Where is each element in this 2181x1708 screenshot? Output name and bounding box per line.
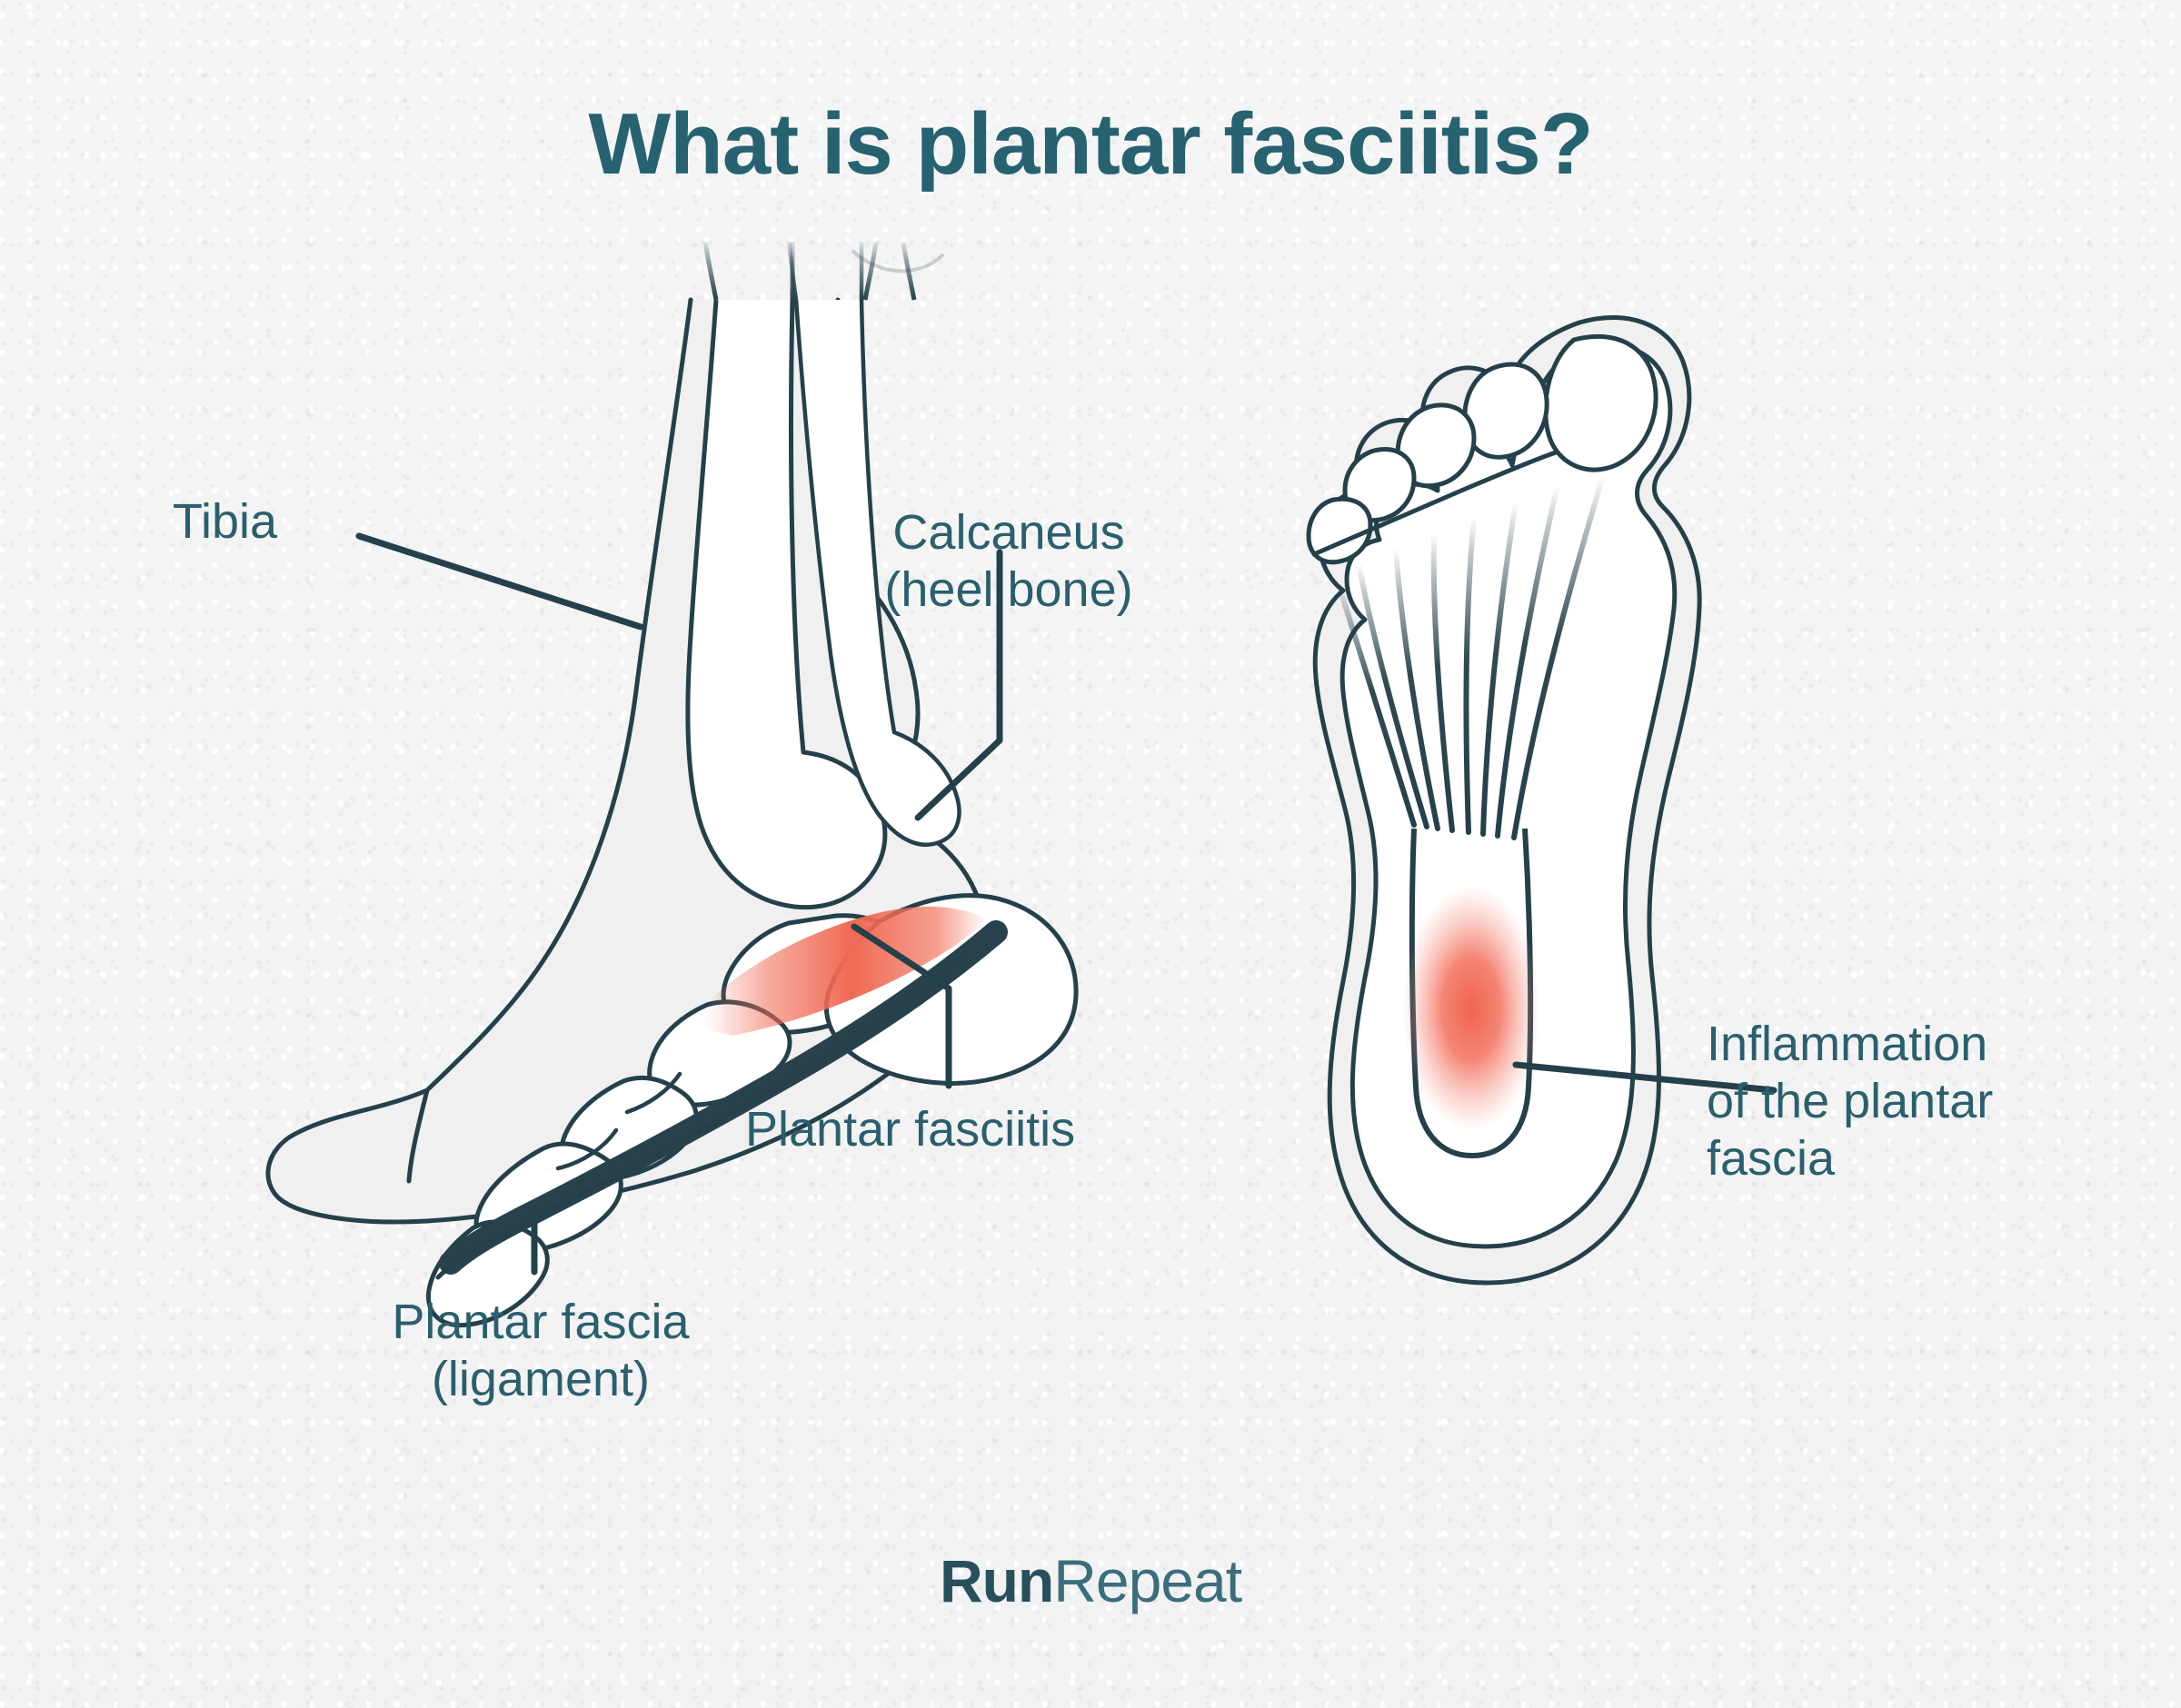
label-plantar-fasciitis: Plantar fasciitis: [745, 1101, 1075, 1158]
infographic-canvas: What is plantar fasciitis?: [0, 0, 2181, 1708]
big-toe: [1546, 336, 1656, 470]
label-tibia: Tibia: [173, 493, 277, 551]
logo-repeat-text: Repeat: [1053, 1547, 1241, 1614]
fibula-upper-shaft-fade: [789, 242, 861, 300]
logo-run-text: Run: [940, 1547, 1053, 1614]
label-inflammation: Inflammation of the plantar fascia: [1707, 1016, 1993, 1188]
sole-inflammation-region: [1402, 886, 1540, 1131]
anatomy-illustration: [0, 0, 2181, 1708]
lateral-foot-view: [268, 242, 1076, 1326]
runrepeat-logo[interactable]: RunRepeat: [0, 1546, 2181, 1615]
calf-notch-fade: [852, 251, 943, 271]
label-calcaneus: Calcaneus (heel bone): [809, 504, 1209, 619]
plantar-sole-view: [1309, 317, 1774, 1283]
tibia-upper-shaft-fade: [705, 242, 792, 300]
tibia-leader-line: [359, 536, 641, 627]
label-plantar-fascia: Plantar fascia (ligament): [300, 1294, 782, 1408]
